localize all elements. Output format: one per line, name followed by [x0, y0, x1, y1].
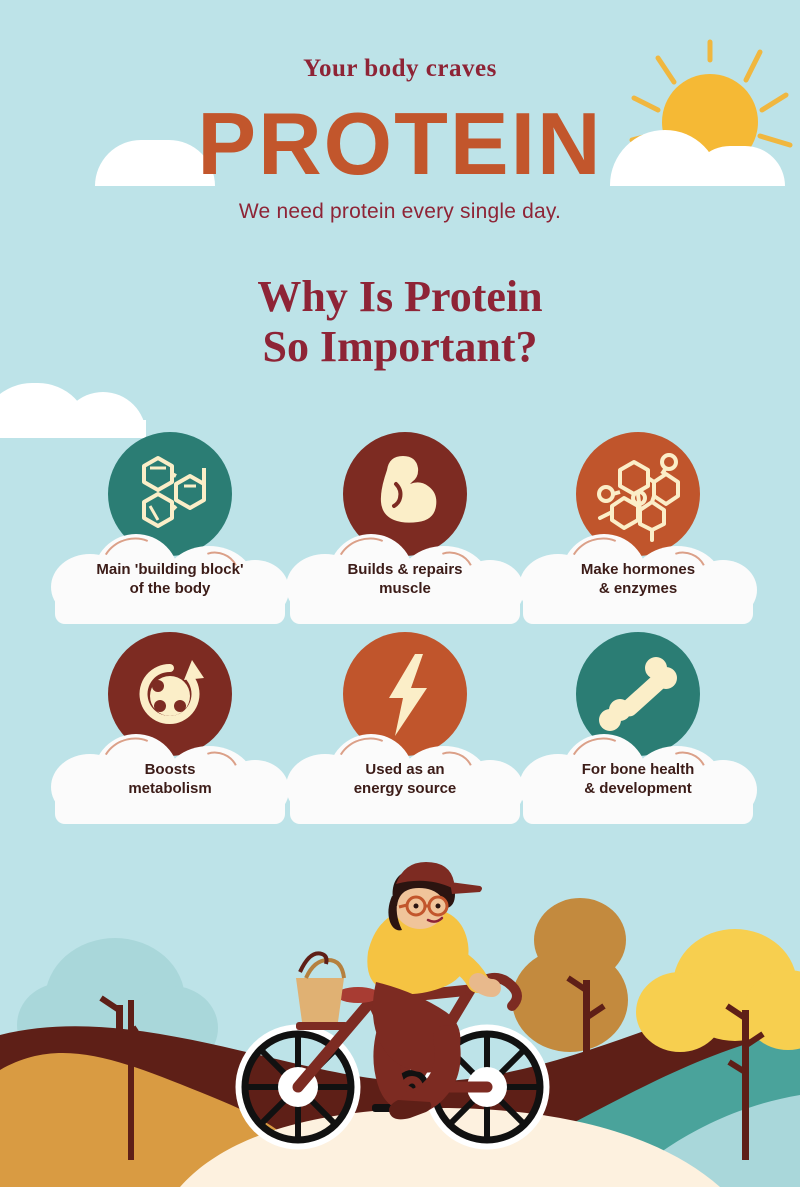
benefit-label: Used as an energy source	[280, 760, 530, 798]
wordmark-protein: PROTEIN	[0, 100, 800, 188]
benefit-card-bone-health[interactable]: For bone health & development	[513, 632, 763, 832]
benefit-label-line-2: muscle	[280, 579, 530, 598]
benefit-card-building-block[interactable]: Main 'building block' of the body	[45, 432, 295, 632]
benefit-label: Boosts metabolism	[45, 760, 295, 798]
benefit-label-line-1: Boosts	[45, 760, 295, 779]
shopping-bag-icon	[296, 953, 344, 1022]
benefit-label: Builds & repairs muscle	[280, 560, 530, 598]
benefits-row: Boosts metabolism	[0, 632, 800, 832]
hill-ochre	[0, 1053, 320, 1187]
label-cloud: Builds & repairs muscle	[280, 532, 530, 622]
cyclist-shirt	[367, 908, 468, 994]
benefits-row: Main 'building block' of the body	[0, 432, 800, 632]
benefit-label-line-2: & enzymes	[513, 579, 763, 598]
benefit-label: Main 'building block' of the body	[45, 560, 295, 598]
benefit-label-line-1: Used as an	[280, 760, 530, 779]
label-cloud: Main 'building block' of the body	[45, 532, 295, 622]
benefit-label: For bone health & development	[513, 760, 763, 798]
benefit-label-line-1: For bone health	[513, 760, 763, 779]
headline-line-2: So Important?	[0, 322, 800, 372]
cyclist-pants	[373, 982, 461, 1073]
benefit-label: Make hormones & enzymes	[513, 560, 763, 598]
benefit-label-line-1: Make hormones	[513, 560, 763, 579]
benefit-card-energy-source[interactable]: Used as an energy source	[280, 632, 530, 832]
benefit-card-boosts-metabolism[interactable]: Boosts metabolism	[45, 632, 295, 832]
page-title: Why Is Protein So Important?	[0, 272, 800, 372]
benefits-grid: Main 'building block' of the body	[0, 432, 800, 832]
label-cloud: Boosts metabolism	[45, 732, 295, 822]
benefit-card-builds-muscle[interactable]: Builds & repairs muscle	[280, 432, 530, 632]
hill-teal	[470, 1030, 800, 1187]
hill-cream-foreground	[180, 1108, 720, 1187]
hill-pale-teal	[620, 1095, 800, 1187]
label-cloud: Make hormones & enzymes	[513, 532, 763, 622]
cyclist-head	[393, 875, 447, 929]
label-cloud: Used as an energy source	[280, 732, 530, 822]
tree-tan-icon	[512, 898, 628, 1090]
tree-pale-teal-icon	[17, 938, 218, 1165]
subtitle-text: We need protein every single day.	[0, 200, 800, 224]
benefit-card-hormones-enzymes[interactable]: Make hormones & enzymes	[513, 432, 763, 632]
bicycle-icon	[240, 978, 545, 1145]
benefit-label-line-2: energy source	[280, 779, 530, 798]
cyclist-icon	[367, 862, 492, 1119]
ground-dark-layer	[0, 985, 800, 1187]
benefit-label-line-2: metabolism	[45, 779, 295, 798]
tree-yellow-icon	[636, 929, 800, 1160]
kicker-label: Your body craves	[303, 55, 497, 83]
tree-bare-icon	[128, 1000, 134, 1160]
infographic-poster: Your body craves PROTEIN We need protein…	[0, 0, 800, 1187]
headline-line-1: Why Is Protein	[0, 272, 800, 322]
benefit-label-line-2: & development	[513, 779, 763, 798]
benefit-label-line-1: Main 'building block'	[45, 560, 295, 579]
kicker-text: Your body craves	[0, 55, 800, 83]
label-cloud: For bone health & development	[513, 732, 763, 822]
benefit-label-line-1: Builds & repairs	[280, 560, 530, 579]
benefit-label-line-2: of the body	[45, 579, 295, 598]
